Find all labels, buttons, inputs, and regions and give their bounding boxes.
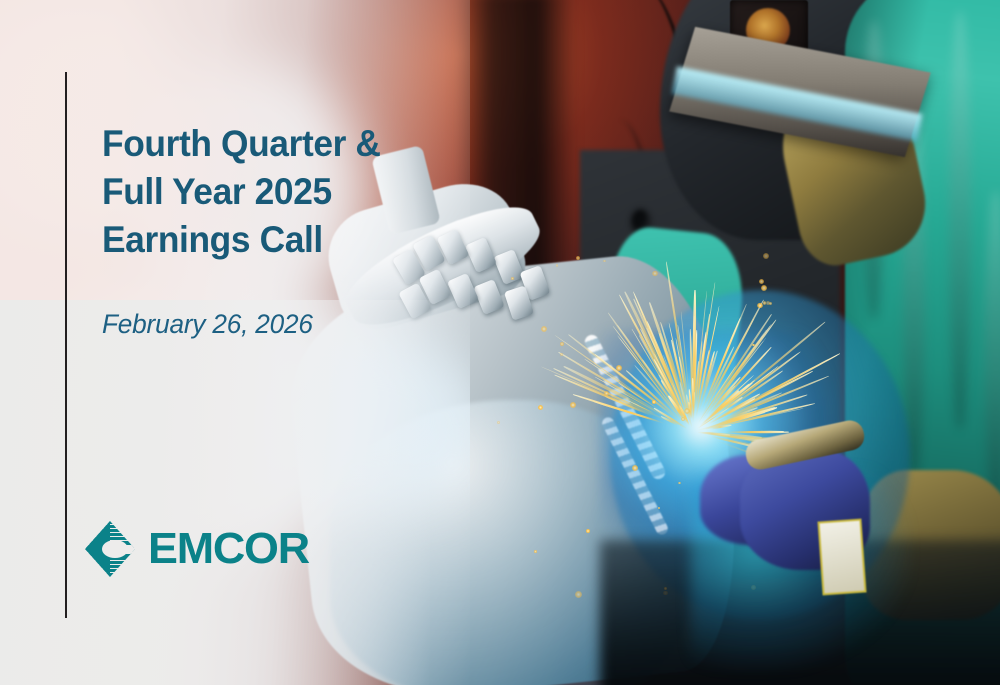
emcor-wordmark: EMCOR <box>148 527 309 571</box>
ember <box>534 550 537 553</box>
ember <box>556 264 559 267</box>
emcor-diamond-logo-icon <box>85 521 135 577</box>
ember <box>560 353 563 356</box>
title-line-1: Fourth Quarter & <box>102 120 427 168</box>
event-date: February 26, 2026 <box>102 307 313 341</box>
emcor-logo: EMCOR <box>85 521 306 577</box>
vertical-rule <box>65 72 67 618</box>
title-slide: Fourth Quarter & Full Year 2025 Earnings… <box>0 0 1000 685</box>
ember <box>761 285 767 291</box>
ember <box>757 303 762 308</box>
ember <box>678 482 681 485</box>
ember <box>603 260 606 263</box>
ember <box>652 400 655 403</box>
ember <box>684 408 690 414</box>
ember <box>497 421 500 424</box>
page-title: Fourth Quarter & Full Year 2025 Earnings… <box>102 120 442 264</box>
jacket-fold <box>949 10 971 430</box>
ember <box>511 277 514 280</box>
spark <box>692 378 694 414</box>
title-line-2: Full Year 2025 <box>102 168 427 216</box>
ember <box>570 402 576 408</box>
ember <box>616 365 622 371</box>
ember <box>541 326 547 332</box>
equipment-label-plate <box>817 519 866 596</box>
spark <box>726 430 784 432</box>
ember <box>586 529 590 533</box>
title-line-3: Earnings Call <box>102 216 427 264</box>
jacket-fold <box>985 190 1000 520</box>
